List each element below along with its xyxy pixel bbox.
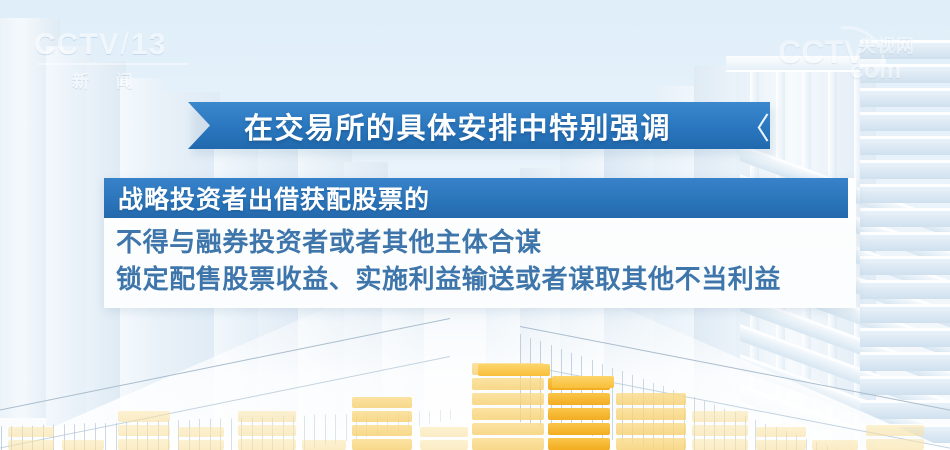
gold-bar [302, 440, 346, 450]
subject-bar: 战略投资者出借获配股票的 [104, 178, 848, 218]
gold-bar [616, 438, 686, 450]
gold-bar [616, 393, 686, 405]
gold-bar [178, 427, 224, 437]
gold-bar [756, 427, 806, 437]
gold-bar-top [552, 376, 614, 388]
gold-bar [548, 423, 610, 435]
gold-bar [692, 425, 748, 436]
body-text-block: 不得与融券投资者或者其他主体合谋 锁定配售股票收益、实施利益输送或者谋取其他不当… [116, 224, 852, 298]
gold-bar [178, 440, 224, 450]
body-line: 不得与融券投资者或者其他主体合谋 [116, 224, 852, 261]
gold-bar [118, 411, 170, 422]
gold-bar [62, 440, 104, 450]
gold-bar [118, 439, 170, 450]
floor-slab [860, 88, 950, 107]
floor-slab [860, 136, 950, 155]
gold-bar [8, 427, 54, 437]
broadcast-frame: CCTV/13 新 闻 CCTV com 央视网 在交易所的具体安排中特别强调 … [0, 0, 950, 450]
floor-slab [860, 232, 950, 251]
gold-bar [616, 423, 686, 435]
gold-bar [352, 439, 412, 450]
gold-bar [692, 439, 748, 450]
floor-slab [860, 256, 950, 275]
floor-slab [860, 184, 950, 203]
gold-bar [616, 408, 686, 420]
gold-bar [420, 427, 468, 437]
gold-bar [352, 425, 412, 436]
gold-bar [548, 393, 610, 405]
gold-bar [352, 411, 412, 422]
floor-slab [860, 280, 950, 299]
gold-bar [8, 440, 54, 450]
gold-bar [692, 411, 748, 422]
gold-bar [866, 425, 924, 436]
gold-bar-top [478, 364, 550, 376]
gold-bar [420, 440, 468, 450]
gold-bar [118, 425, 170, 436]
floor-slab [860, 160, 950, 179]
subject-text: 战略投资者出借获配股票的 [118, 180, 430, 216]
body-line: 锁定配售股票收益、实施利益输送或者谋取其他不当利益 [116, 261, 852, 298]
floor-slab [860, 40, 950, 59]
floor-slab [860, 112, 950, 131]
gold-bar [812, 440, 858, 450]
gold-bar [238, 439, 296, 450]
gold-bar [238, 425, 296, 436]
headline-text: 在交易所的具体安排中特别强调 [244, 105, 671, 147]
gold-bar-stacks [0, 340, 950, 450]
gold-bar [352, 397, 412, 408]
gold-bar [472, 408, 544, 420]
floor-slab [860, 208, 950, 227]
gold-bar [472, 378, 544, 390]
gold-bar [472, 423, 544, 435]
chevron-right-icon: 〈 [740, 102, 770, 149]
floor-slab [860, 64, 950, 83]
gold-bar [472, 393, 544, 405]
gold-bar [238, 411, 296, 422]
gold-bar [548, 438, 610, 450]
gold-bar [472, 438, 544, 450]
headline-banner: 在交易所的具体安排中特别强调 [188, 102, 770, 149]
gold-bar [756, 440, 806, 450]
gold-bar [548, 408, 610, 420]
gold-bar [866, 439, 924, 450]
